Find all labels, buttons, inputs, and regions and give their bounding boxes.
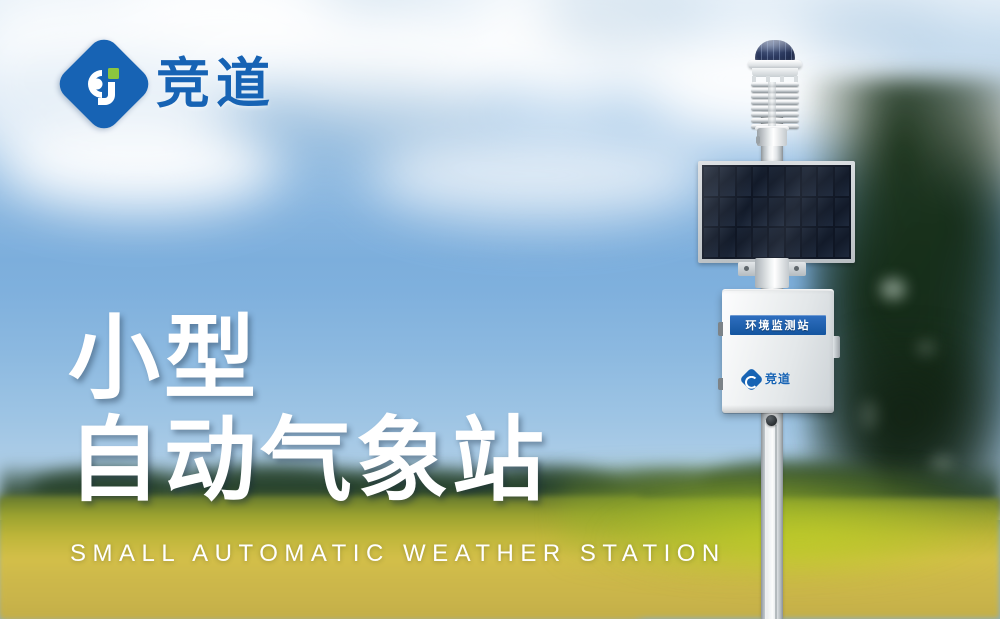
brand-logo-text: 竞道	[156, 57, 276, 111]
enclosure-brand: 竞道	[743, 369, 815, 389]
pole-highlight	[765, 420, 772, 619]
panel-pole-clamp	[755, 258, 789, 288]
product-banner: 环境监测站 竞道 竞道 小型 自动气象站 SMALL AUTOMATIC WEA…	[0, 0, 1000, 619]
solar-panel	[698, 161, 855, 263]
jingdao-diamond-logo-icon	[53, 33, 155, 135]
headline-block: 小型 自动气象站	[68, 312, 548, 508]
pole-seam	[775, 425, 777, 619]
enclosure-bottom-shadow	[722, 405, 834, 414]
sensor-neck	[757, 128, 787, 146]
bracket-bolt	[794, 266, 799, 271]
enclosure-latch	[833, 336, 840, 358]
logo-glyph	[68, 48, 140, 120]
brand-logo[interactable]: 竞道	[68, 48, 276, 120]
headline-line-2: 自动气象站	[68, 414, 548, 508]
sensor-neck-screw	[756, 136, 760, 144]
enclosure-hinge	[718, 378, 723, 390]
enclosure-label-text: 环境监测站	[746, 320, 811, 331]
enclosure-label-banner: 环境监测站	[730, 315, 826, 335]
headline-line-1: 小型	[68, 312, 548, 406]
bracket-bolt	[744, 266, 749, 271]
enclosure-brand-text: 竞道	[765, 373, 791, 385]
shield-center-post	[768, 82, 776, 130]
jingdao-diamond-logo-icon	[739, 367, 763, 391]
enclosure-hinge	[718, 322, 723, 336]
cable-gland-icon	[766, 415, 777, 426]
subtitle: SMALL AUTOMATIC WEATHER STATION	[70, 540, 726, 568]
solar-cell-grid	[702, 165, 851, 259]
control-enclosure	[722, 291, 834, 413]
